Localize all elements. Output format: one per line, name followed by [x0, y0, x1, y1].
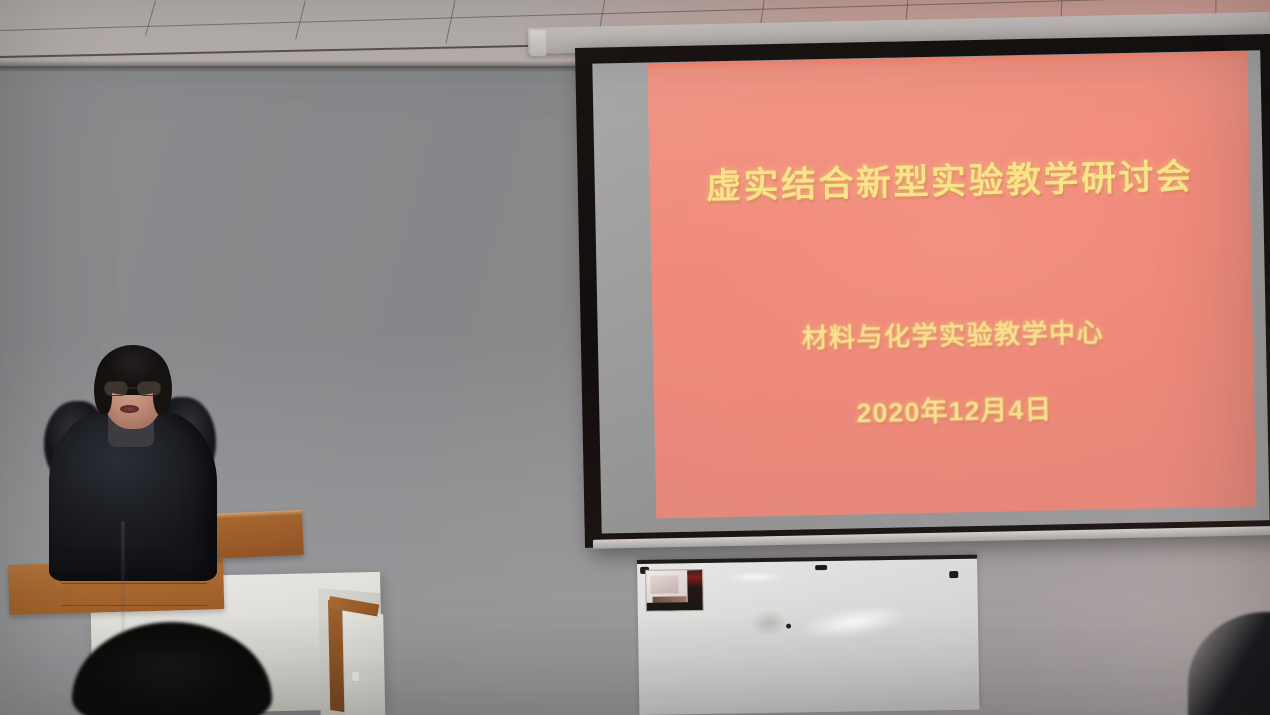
- presenter-mouth: [120, 405, 139, 413]
- poster-image-top: [650, 575, 678, 593]
- roller-end-cap: [530, 30, 547, 56]
- podium-knob: [352, 672, 359, 681]
- glasses-lens-left: [104, 381, 128, 396]
- poster-footer-bar: [647, 602, 703, 611]
- projected-slide: 虚实结合新型实验教学研讨会 材料与化学实验教学中心 2020年12月4日: [647, 52, 1256, 519]
- glasses-lens-right: [137, 381, 161, 396]
- slide-light-gradient: [647, 52, 1256, 519]
- slide-title: 虚实结合新型实验教学研讨会: [649, 147, 1250, 210]
- whiteboard-smudge: [750, 610, 788, 637]
- coat-zipper: [121, 521, 125, 641]
- podium-right-wood-edge: [328, 600, 344, 712]
- slide-subtitle: 材料与化学实验教学中心: [653, 309, 1254, 358]
- whiteboard-corner-poster: [645, 569, 704, 612]
- slide-date: 2020年12月4日: [654, 383, 1255, 434]
- glasses-icon: [104, 381, 164, 396]
- whiteboard-glare: [797, 600, 910, 645]
- whiteboard-clip-center: [815, 565, 827, 570]
- podium-right-face: [343, 606, 385, 715]
- coat-quilt-lines: [61, 561, 207, 562]
- presenter: [46, 345, 221, 580]
- whiteboard-mark: [786, 624, 791, 629]
- whiteboard-glare-small: [725, 572, 785, 583]
- projection-screen: 虚实结合新型实验教学研讨会 材料与化学实验教学中心 2020年12月4日: [575, 34, 1270, 553]
- lecture-room-photo: 虚实结合新型实验教学研讨会 材料与化学实验教学中心 2020年12月4日: [0, 0, 1270, 715]
- whiteboard: [637, 555, 979, 715]
- whiteboard-clip-right: [949, 571, 958, 578]
